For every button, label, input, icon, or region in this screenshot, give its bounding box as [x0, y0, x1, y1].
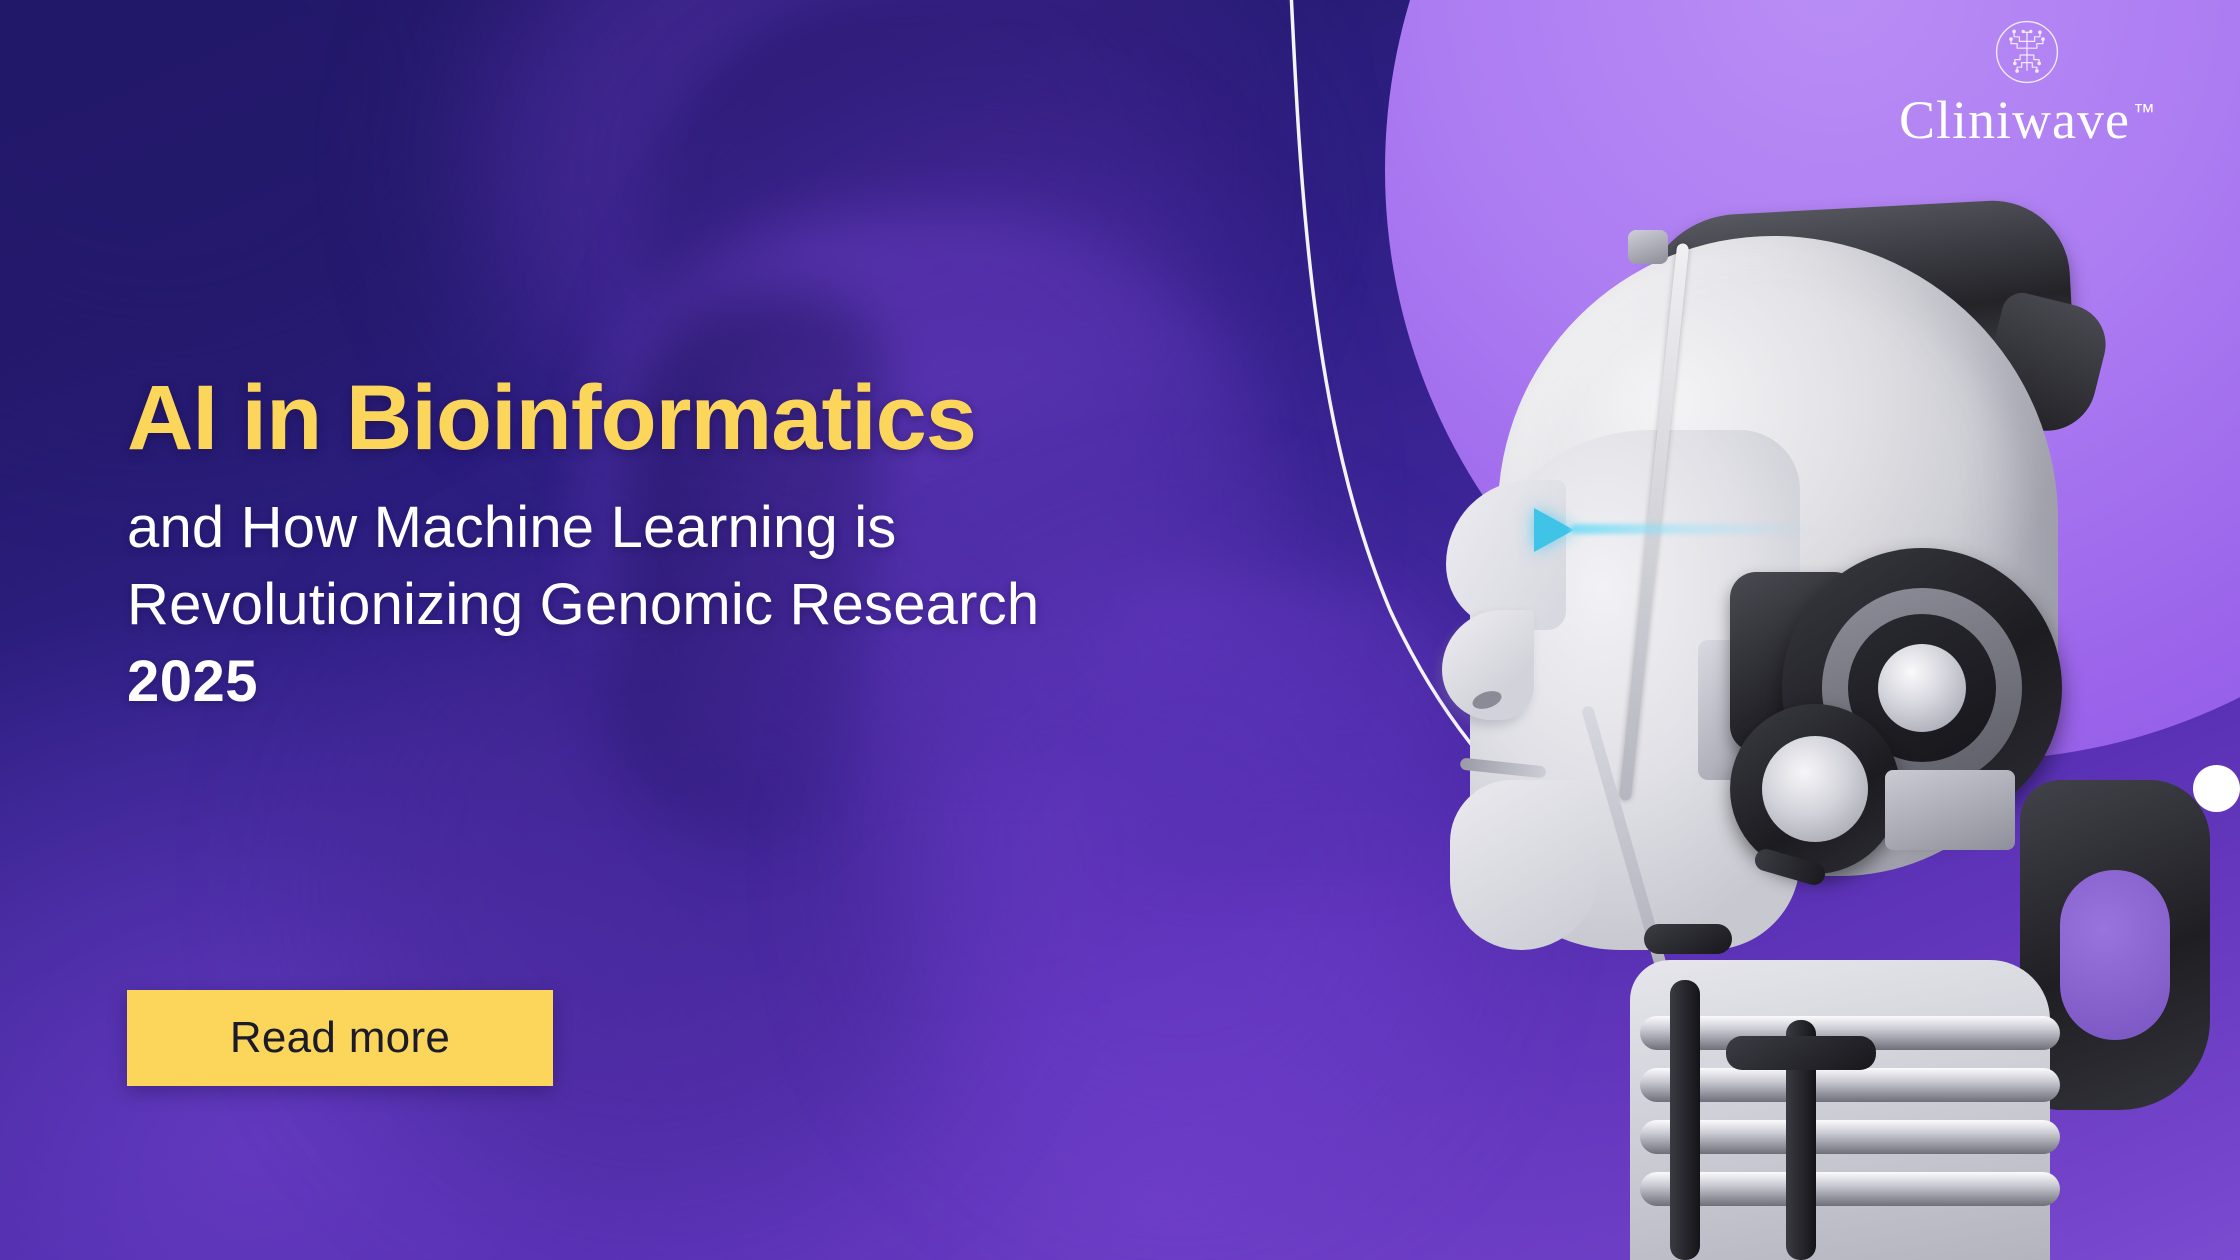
subtitle-line-2: Revolutionizing Genomic Research	[127, 567, 1387, 644]
robot-eye-beam	[1570, 524, 1820, 534]
robot-neck-clamp	[1726, 1036, 1876, 1070]
robot-ear-module-small	[1730, 704, 1900, 874]
year-label: 2025	[127, 647, 1387, 717]
robot-ear-core	[1878, 644, 1966, 732]
brand-wordmark: Cliniwave™	[1899, 92, 2155, 149]
robot-head-illustration	[1430, 180, 2240, 1260]
promo-banner: Cliniwave™ AI in Bioinformatics and How …	[0, 0, 2240, 1260]
robot-ear-small-core	[1762, 736, 1868, 842]
bg-blob-dark	[0, 0, 500, 400]
page-title: AI in Bioinformatics	[127, 372, 1387, 464]
robot-eye-icon	[1534, 508, 1574, 552]
read-more-button[interactable]: Read more	[127, 990, 553, 1086]
robot-neck-ring	[1640, 1120, 2060, 1154]
brand-name: Cliniwave	[1899, 90, 2130, 150]
ghost-dome	[613, 0, 1327, 375]
tree-of-life-circuit-icon	[1989, 14, 2065, 90]
edge-dot-decoration	[2193, 765, 2240, 812]
robot-chin	[1450, 780, 1600, 950]
trademark-symbol: ™	[2133, 99, 2155, 124]
robot-neck-guard-aperture	[2060, 870, 2170, 1040]
robot-neck-clamp	[1644, 924, 1732, 954]
subtitle-line-1: and How Machine Learning is	[127, 490, 1387, 567]
subtitle: and How Machine Learning is Revolutioniz…	[127, 490, 1387, 643]
copy-block: AI in Bioinformatics and How Machine Lea…	[127, 372, 1387, 717]
robot-headband-clip	[1628, 230, 1668, 264]
robot-neck-ring	[1640, 1172, 2060, 1206]
robot-brow	[1446, 480, 1566, 630]
robot-neck-rod	[1670, 980, 1700, 1260]
robot-neck-ring	[1640, 1068, 2060, 1102]
brand-logo[interactable]: Cliniwave™	[1862, 14, 2192, 149]
robot-ear-tab	[1885, 770, 2015, 850]
